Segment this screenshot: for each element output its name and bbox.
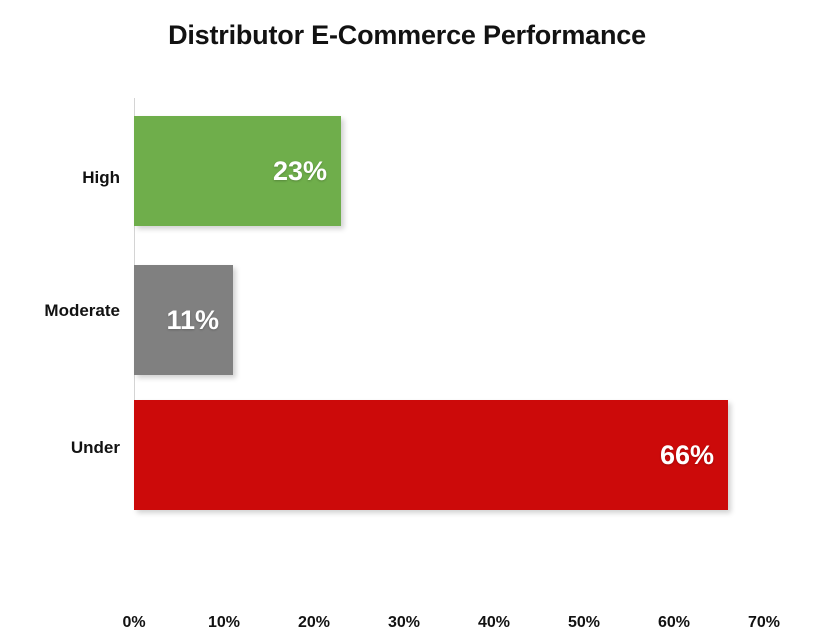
- bar-high[interactable]: 23%: [134, 116, 341, 226]
- y-axis-label-high: High: [10, 168, 120, 188]
- x-axis-tick-30: 30%: [369, 614, 439, 632]
- bar-row-moderate: 11%: [134, 265, 233, 375]
- bar-value-under: 66%: [660, 440, 728, 471]
- y-axis-label-under: Under: [10, 438, 120, 458]
- bar-value-high: 23%: [273, 156, 341, 187]
- x-axis-tick-0: 0%: [99, 614, 169, 632]
- x-axis-tick-50: 50%: [549, 614, 619, 632]
- bar-value-moderate: 11%: [166, 305, 233, 336]
- x-axis-tick-40: 40%: [459, 614, 529, 632]
- bar-row-under: 66%: [134, 400, 728, 510]
- plot-area: 23% 11% 66% 0% 10% 20% 30% 40% 50% 60% 7…: [134, 98, 774, 496]
- x-axis-tick-20: 20%: [279, 614, 349, 632]
- bar-chart: Distributor E-Commerce Performance High …: [0, 0, 814, 570]
- x-axis-tick-10: 10%: [189, 614, 259, 632]
- x-axis-tick-70: 70%: [729, 614, 799, 632]
- x-axis-tick-60: 60%: [639, 614, 709, 632]
- chart-title: Distributor E-Commerce Performance: [0, 20, 814, 51]
- bar-row-high: 23%: [134, 116, 341, 226]
- bar-moderate[interactable]: 11%: [134, 265, 233, 375]
- y-axis-label-moderate: Moderate: [10, 301, 120, 321]
- bar-under[interactable]: 66%: [134, 400, 728, 510]
